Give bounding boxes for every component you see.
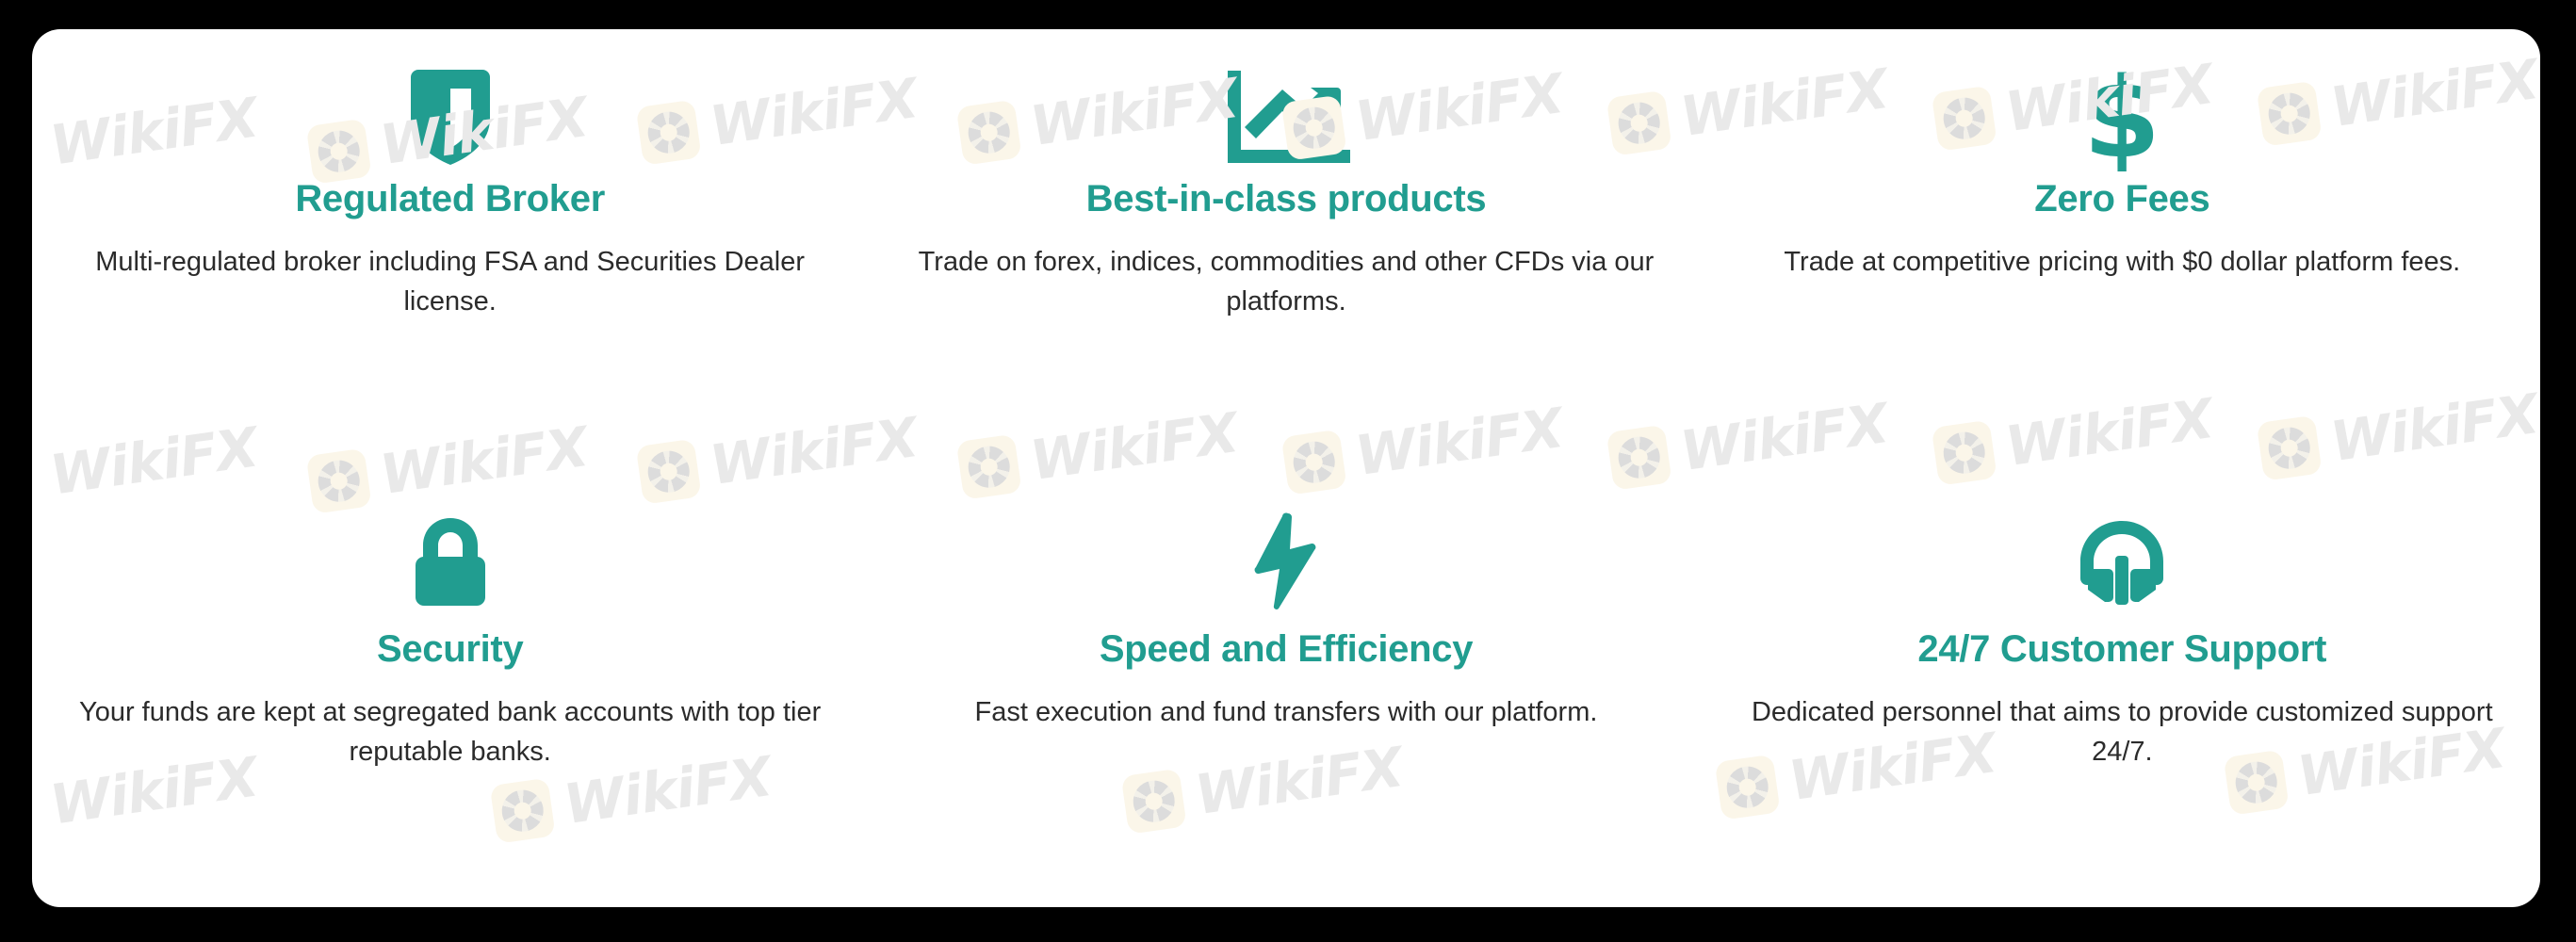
- feature-card-best-in-class-products: Best-in-class products Trade on forex, i…: [868, 29, 1704, 468]
- headset-icon: [2073, 500, 2171, 623]
- feature-card-speed-and-efficiency: Speed and Efficiency Fast execution and …: [868, 468, 1704, 907]
- feature-description: Trade at competitive pricing with $0 dol…: [1784, 242, 2460, 282]
- feature-description: Your funds are kept at segregated bank a…: [73, 692, 827, 771]
- svg-text:$: $: [2083, 62, 2160, 171]
- feature-card-customer-support: 24/7 Customer Support Dedicated personne…: [1704, 468, 2540, 907]
- feature-title: 24/7 Customer Support: [1917, 628, 2326, 670]
- feature-card-regulated-broker: Regulated Broker Multi-regulated broker …: [32, 29, 868, 468]
- dollar-sign-icon: $: [2083, 61, 2160, 172]
- feature-title: Best-in-class products: [1086, 178, 1487, 219]
- feature-description: Dedicated personnel that aims to provide…: [1745, 692, 2499, 771]
- feature-description: Multi-regulated broker including FSA and…: [73, 242, 827, 321]
- feature-description: Trade on forex, indices, commodities and…: [909, 242, 1663, 321]
- page-root: WikiFX WikiFX WikiFX WikiFX WikiFX WikiF…: [0, 0, 2576, 942]
- growth-chart-icon: [1220, 61, 1352, 172]
- feature-description: Fast execution and fund transfers with o…: [975, 692, 1598, 732]
- feature-card-security: Security Your funds are kept at segregat…: [32, 468, 868, 907]
- feature-card-zero-fees: $ Zero Fees Trade at competitive pricing…: [1704, 29, 2540, 468]
- feature-title: Speed and Efficiency: [1100, 628, 1473, 670]
- feature-title: Security: [377, 628, 523, 670]
- feature-title: Zero Fees: [2034, 178, 2209, 219]
- lightning-bolt-icon: [1251, 500, 1321, 623]
- padlock-icon: [409, 500, 492, 623]
- features-card: WikiFX WikiFX WikiFX WikiFX WikiFX WikiF…: [32, 29, 2540, 907]
- shield-icon: [405, 61, 496, 172]
- feature-grid: Regulated Broker Multi-regulated broker …: [32, 29, 2540, 907]
- feature-title: Regulated Broker: [295, 178, 605, 219]
